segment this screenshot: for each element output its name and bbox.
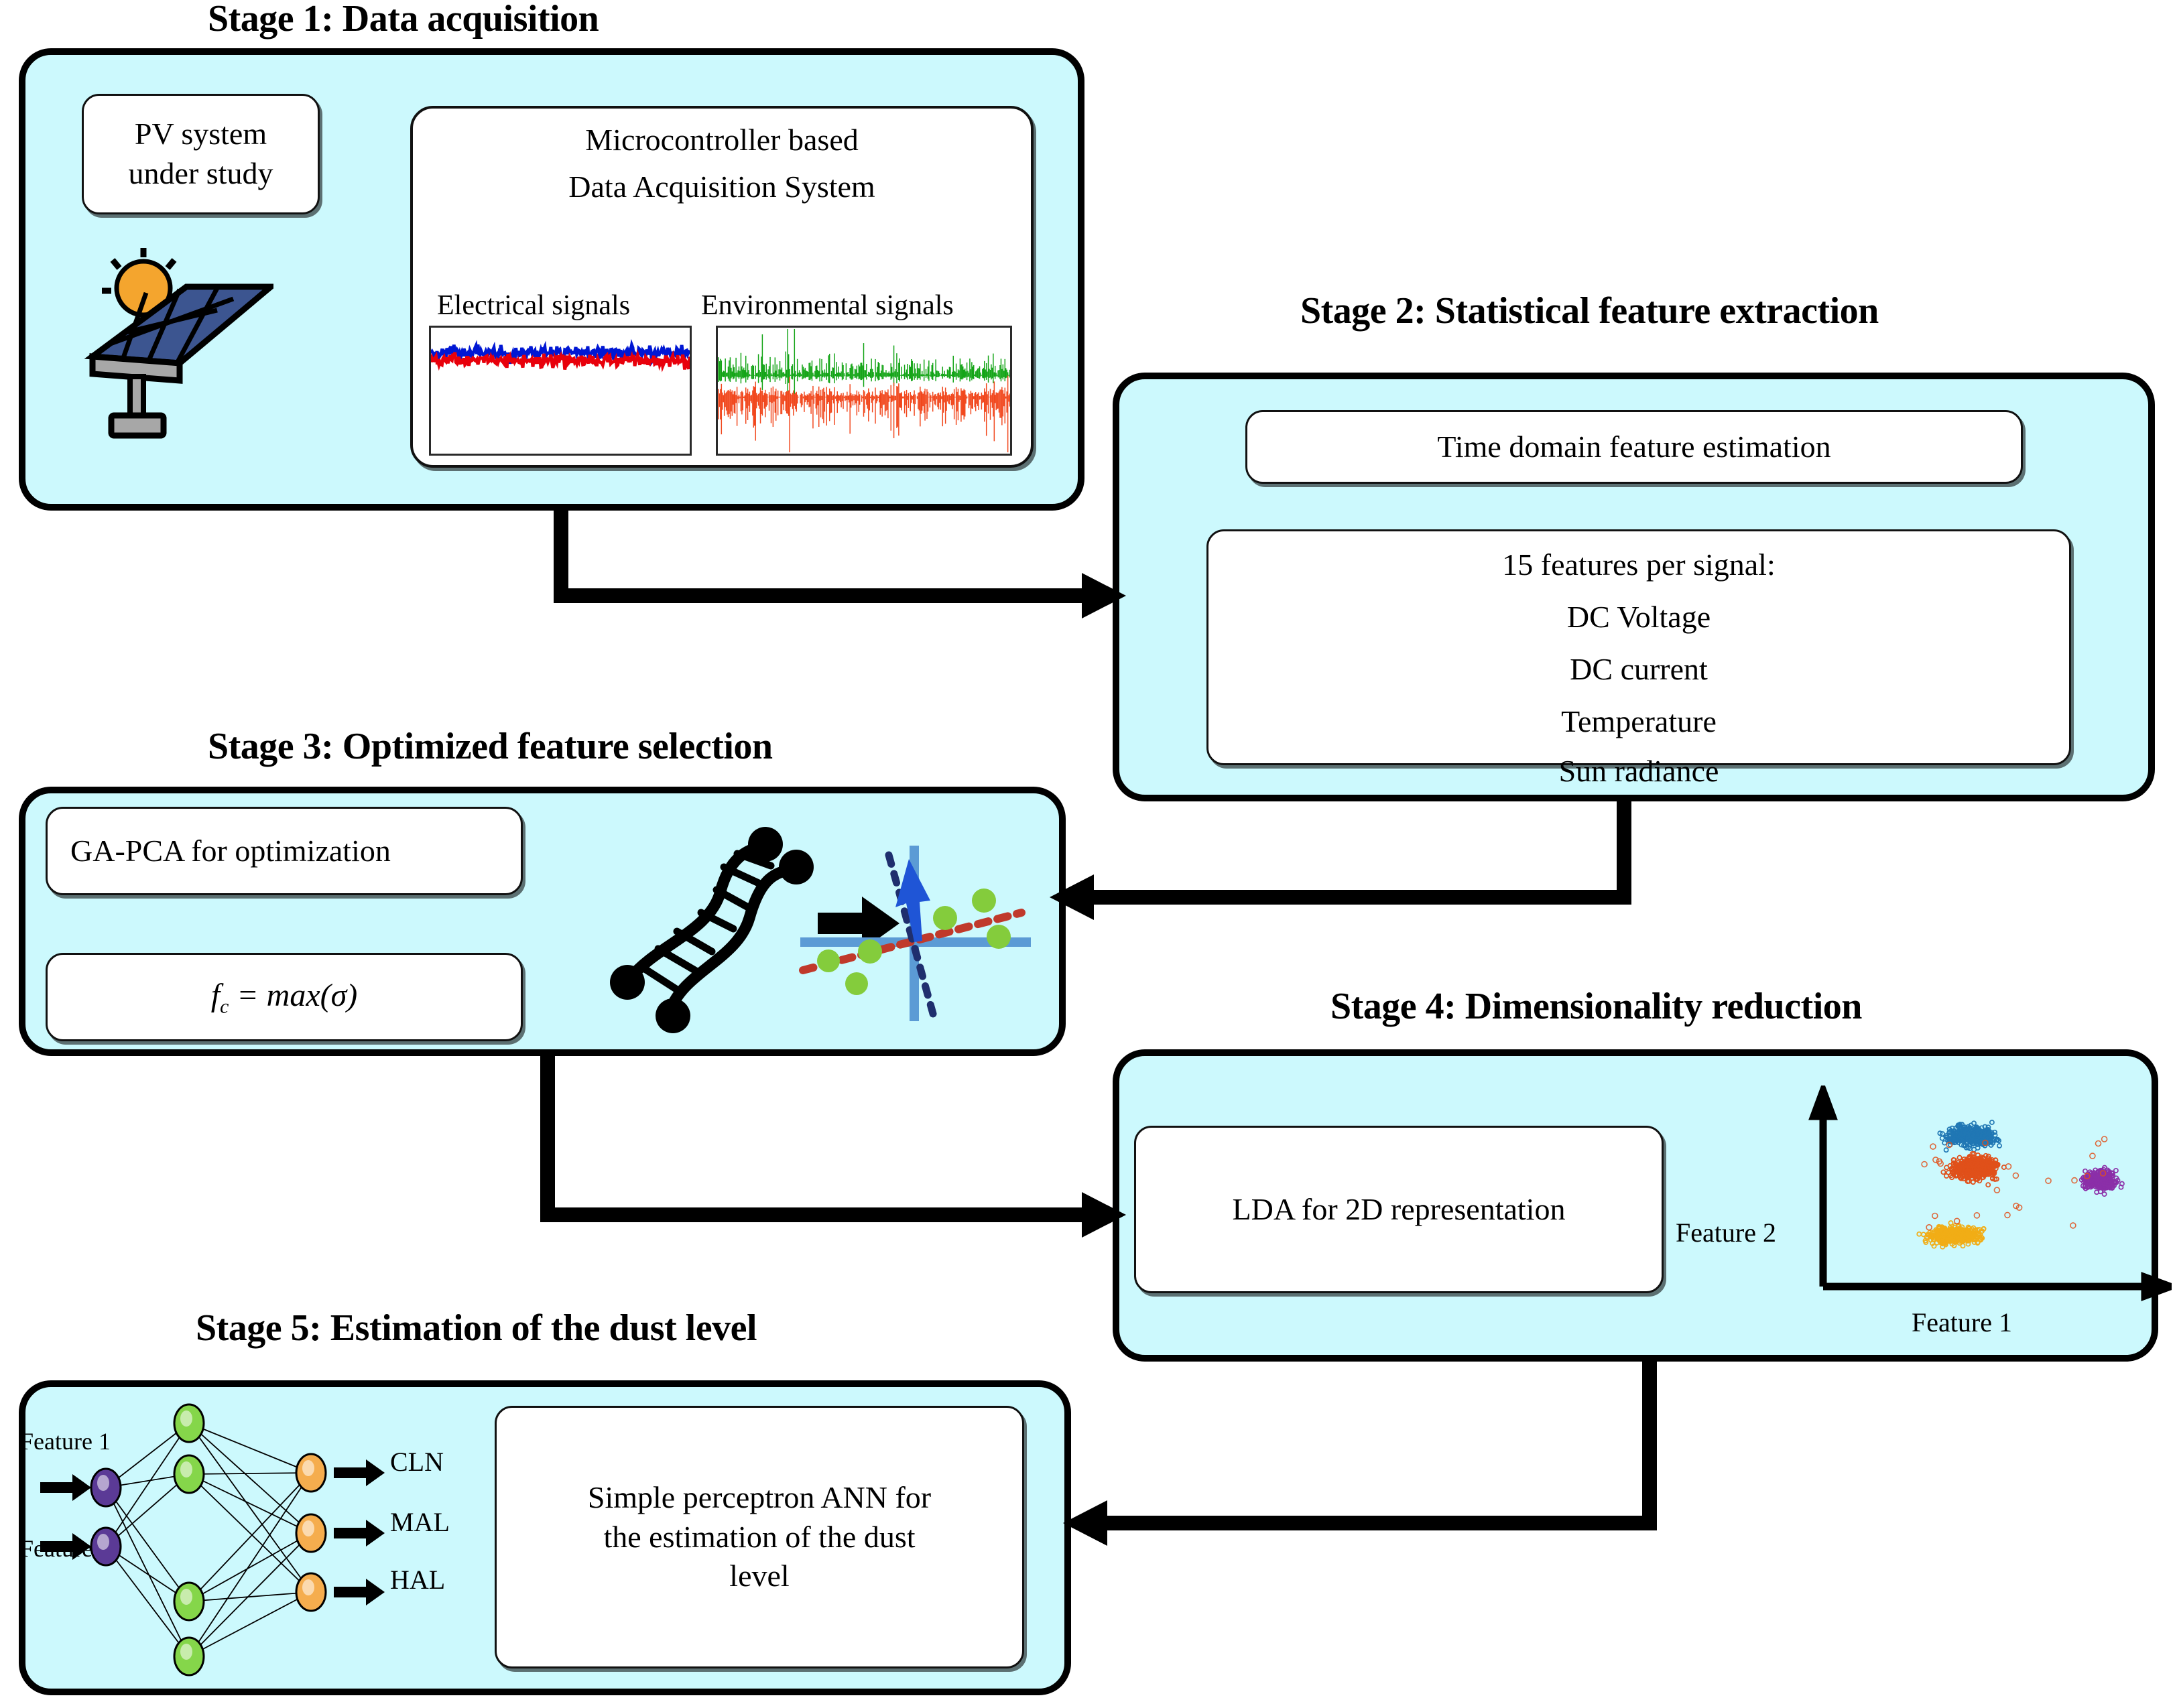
nn-input-arrows <box>40 1474 91 1560</box>
electrical-signals-plot <box>429 326 692 456</box>
feature-item-sun-radiance: Sun radiance <box>1206 753 2071 789</box>
ga-pca-box: GA-PCA for optimization <box>46 807 523 895</box>
feature-item-temperature: Temperature <box>1206 704 2071 739</box>
fc-formula: fc = max(σ) <box>211 975 358 1020</box>
lda-scatter-plot <box>1796 1086 2172 1313</box>
panel-array <box>92 287 271 436</box>
stage-2-title: Stage 2: Statistical feature extraction <box>1300 289 1879 332</box>
pca-direction-arrow <box>895 859 930 942</box>
connector-stage4-to-stage5 <box>1063 1359 1657 1546</box>
lda-ylabel: Feature 2 <box>1676 1217 1776 1248</box>
neural-network-diagram <box>34 1388 436 1690</box>
pca-axes-scatter-icon <box>791 817 1046 1039</box>
connector-stage2-to-stage3 <box>1050 799 1631 920</box>
feature-item-dc-voltage: DC Voltage <box>1206 599 2071 635</box>
feature-item-dc-current: DC current <box>1206 651 2071 687</box>
environmental-signals-svg <box>718 328 1010 454</box>
electrical-signals-svg <box>431 328 690 454</box>
stage-4-title: Stage 4: Dimensionality reduction <box>1330 985 1862 1028</box>
dac-title-line2: Data Acquisition System <box>410 169 1034 204</box>
connector-stage1-to-stage2 <box>554 509 1126 618</box>
time-domain-feature-box: Time domain feature estimation <box>1245 410 2023 484</box>
environmental-signals-label: Environmental signals <box>701 289 954 322</box>
stage-1-title: Stage 1: Data acquisition <box>208 0 599 40</box>
ann-description-box: Simple perceptron ANN for the estimation… <box>495 1406 1024 1668</box>
environmental-signals-plot <box>716 326 1012 456</box>
lda-box: LDA for 2D representation <box>1134 1126 1664 1293</box>
solar-panel-icon <box>79 243 273 444</box>
pv-system-box: PV system under study <box>82 94 320 214</box>
stage-5-title: Stage 5: Estimation of the dust level <box>196 1307 757 1350</box>
lda-axes <box>1814 1091 2170 1296</box>
nn-output-arrows <box>334 1459 385 1605</box>
features-heading: 15 features per signal: <box>1206 547 2071 582</box>
connector-stage3-to-stage4 <box>540 1053 1126 1238</box>
electrical-signals-label: Electrical signals <box>437 289 630 322</box>
dac-title-line1: Microcontroller based <box>410 122 1034 157</box>
fc-formula-box: fc = max(σ) <box>46 953 523 1041</box>
stage-3-title: Stage 3: Optimized feature selection <box>208 725 773 768</box>
dna-helix-icon <box>610 827 814 1033</box>
